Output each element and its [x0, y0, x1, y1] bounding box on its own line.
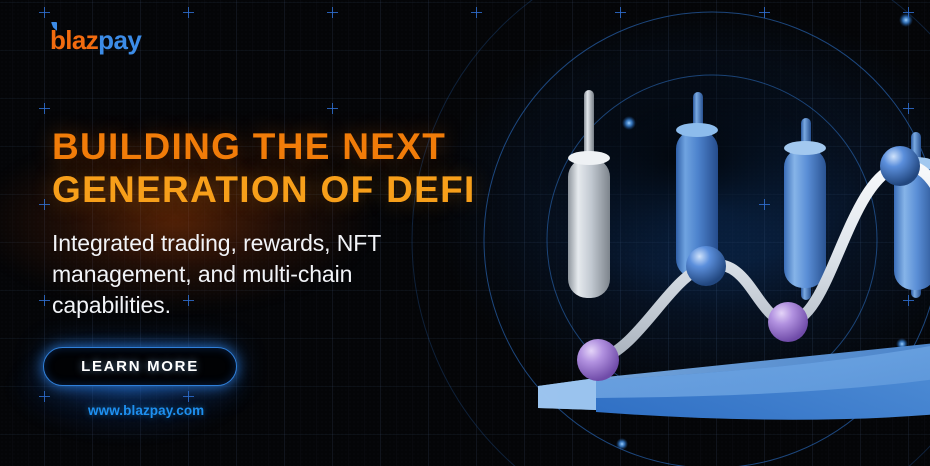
learn-more-button[interactable]: Learn More — [43, 347, 237, 386]
page-title: Building the next Generation of DeFi — [52, 125, 476, 212]
subheadline: Integrated trading, rewards, NFT managem… — [52, 228, 456, 320]
trend-node-purple — [577, 339, 619, 381]
trend-node-purple — [768, 302, 808, 342]
plus-marker-icon — [327, 7, 338, 18]
trend-line — [577, 122, 930, 381]
logo-text-secondary: pay — [98, 25, 141, 55]
plus-marker-icon — [183, 7, 194, 18]
logo-text-primary: blaz — [50, 25, 98, 55]
plus-marker-icon — [903, 7, 914, 18]
brand-logo[interactable]: blazpay — [50, 27, 141, 53]
headline-line-2: Generation of DeFi — [52, 168, 476, 211]
trend-node-blue — [686, 246, 726, 286]
promo-banner: blazpay Building the next Generation of … — [0, 0, 930, 466]
cta-glow — [0, 312, 320, 462]
candle-1 — [568, 90, 610, 298]
plus-marker-icon — [471, 7, 482, 18]
plus-marker-icon — [39, 7, 50, 18]
headline-line-1: Building the next — [52, 125, 476, 168]
plus-marker-icon — [327, 103, 338, 114]
plus-marker-icon — [39, 103, 50, 114]
website-url-link[interactable]: www.blazpay.com — [88, 403, 204, 418]
plus-marker-icon — [183, 391, 194, 402]
plus-marker-icon — [39, 199, 50, 210]
plus-marker-icon — [39, 391, 50, 402]
3d-candlestick-growth-chart — [500, 30, 930, 450]
plus-marker-icon — [759, 7, 770, 18]
trend-node-blue — [880, 146, 920, 186]
plus-marker-icon — [615, 7, 626, 18]
learn-more-label: Learn More — [81, 358, 199, 375]
candle-3 — [784, 118, 826, 300]
plus-marker-icon — [39, 295, 50, 306]
